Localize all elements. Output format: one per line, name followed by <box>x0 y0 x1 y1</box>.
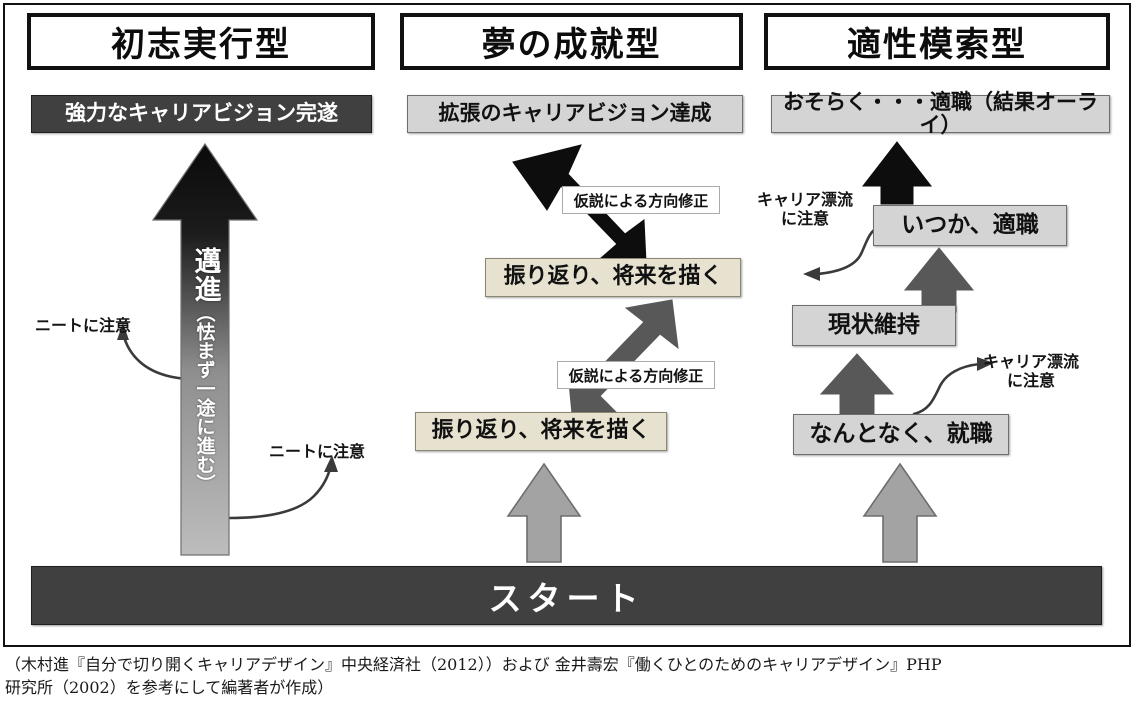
outcome-box-tekisei: おそらく・・・適職（結果オーライ） <box>771 95 1110 133</box>
neet-note-right-label: ニートに注意 <box>269 442 365 461</box>
outcome-box-shoshi-label: 強力なキャリアビジョン完遂 <box>65 102 338 125</box>
callout-upper: 仮説による方向修正 <box>562 186 720 214</box>
step-box-tekisei-genjou: 現状維持 <box>792 305 956 346</box>
drift-note-lower-label: キャリア漂流 に注意 <box>983 352 1079 390</box>
neet-note-right: ニートに注意 <box>252 424 382 462</box>
drift-note-upper-label: キャリア漂流 に注意 <box>757 190 853 228</box>
callout-lower-label: 仮説による方向修正 <box>569 365 704 386</box>
start-arrow-tekisei-icon <box>862 462 938 564</box>
column-header-shoshi: 初志実行型 <box>27 13 375 70</box>
outcome-box-yume-label: 拡張のキャリアビジョン達成 <box>439 102 712 125</box>
column-header-yume: 夢の成就型 <box>400 13 743 70</box>
step-box-yume-lower-label: 振り返り、将来を描く <box>431 419 650 443</box>
step-box-tekisei-shuushoku-label: なんとなく、就職 <box>809 422 992 447</box>
source-caption-line1: （木村進『自分で切り開くキャリアデザイン』中央経済社（2012））および 金井壽… <box>5 654 1130 677</box>
drift-note-lower: キャリア漂流 に注意 <box>962 334 1100 391</box>
outcome-box-shoshi: 強力なキャリアビジョン完遂 <box>31 95 372 133</box>
start-arrow-yume-icon <box>506 462 582 564</box>
march-arrow: 邁進（怯まず一途に進む） <box>150 142 260 557</box>
step-box-tekisei-itsuka-label: いつか、適職 <box>901 213 1039 238</box>
drift-note-upper: キャリア漂流 に注意 <box>740 172 870 229</box>
step-box-tekisei-shuushoku: なんとなく、就職 <box>793 414 1009 455</box>
arrow-shuushoku-to-genjou-icon <box>818 352 896 416</box>
step-box-yume-lower: 振り返り、将来を描く <box>415 412 667 451</box>
start-bar: スタート <box>31 566 1102 625</box>
column-header-tekisei-label: 適性模索型 <box>847 17 1027 66</box>
column-header-yume-label: 夢の成就型 <box>482 17 662 66</box>
source-caption-line2: 研究所（2002）を参考にして編著者が作成） <box>5 677 1130 700</box>
callout-lower: 仮説による方向修正 <box>557 361 715 389</box>
step-box-tekisei-itsuka: いつか、適職 <box>873 205 1067 246</box>
neet-note-left-label: ニートに注意 <box>35 316 131 335</box>
column-header-tekisei: 適性模索型 <box>764 13 1110 70</box>
diagram-canvas: 初志実行型 夢の成就型 適性模索型 強力なキャリアビジョン完遂 拡張のキャリアビ… <box>0 0 1137 713</box>
step-box-tekisei-genjou-label: 現状維持 <box>828 313 920 338</box>
outcome-box-yume: 拡張のキャリアビジョン達成 <box>407 95 743 133</box>
top-arrow-tekisei-icon <box>861 140 933 206</box>
arrow-genjou-to-itsuka-icon <box>903 246 975 314</box>
source-caption: （木村進『自分で切り開くキャリアデザイン』中央経済社（2012））および 金井壽… <box>5 654 1130 699</box>
outcome-box-tekisei-label: おそらく・・・適職（結果オーライ） <box>772 91 1109 137</box>
step-box-yume-upper-label: 振り返り、将来を描く <box>503 265 722 289</box>
callout-upper-label: 仮説による方向修正 <box>574 190 709 211</box>
neet-note-left: ニートに注意 <box>18 298 148 336</box>
step-box-yume-upper: 振り返り、将来を描く <box>485 258 741 297</box>
column-header-shoshi-label: 初志実行型 <box>111 17 291 66</box>
start-bar-label: スタート <box>489 572 645 620</box>
